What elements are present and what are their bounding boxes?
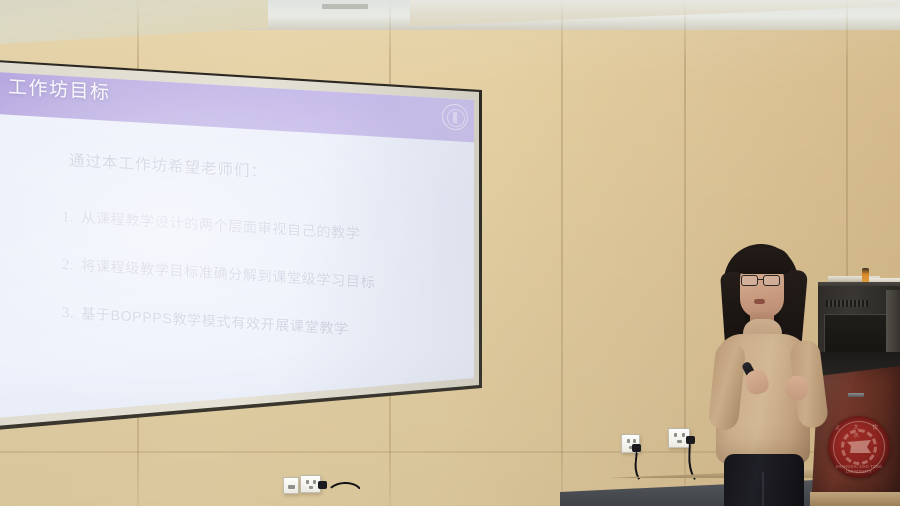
screen-surface: 工作坊目标 通过本工作坊希望老师们： 1. 从课程教学设计的两个层面审视自己的教… (0, 52, 488, 432)
outlet-slot (682, 433, 685, 437)
slide-list-item-text: 将课程级教学目标准确分解到课堂级学习目标 (81, 255, 375, 292)
glasses-lens-right (763, 275, 780, 286)
lectern-handle (848, 393, 864, 397)
outlet-slot (313, 480, 316, 484)
ceiling-vent (322, 4, 368, 9)
glasses-lens-left (741, 275, 758, 286)
slide-list-item: 3. 基于BOPPPS教学模式有效开展课堂教学 (62, 302, 349, 339)
power-plug (318, 481, 327, 489)
outlet-slot (309, 486, 313, 489)
slide-list-item-number: 2. (62, 257, 74, 275)
outlet-slot (633, 439, 636, 443)
room-photo-scene: 工作坊目标 通过本工作坊希望老师们： 1. 从课程教学设计的两个层面审视自己的教… (0, 0, 900, 506)
pants-seam (762, 472, 764, 506)
presenter (690, 236, 850, 506)
presentation-slide: 工作坊目标 通过本工作坊希望老师们： 1. 从课程教学设计的两个层面审视自己的教… (0, 52, 474, 432)
outlet-slot (306, 480, 309, 484)
slide-list-item-number: 3. (62, 305, 74, 323)
slide-list-item: 1. 从课程教学设计的两个层面审视自己的教学 (62, 206, 361, 244)
slide-list-item: 2. 将课程级教学目标准确分解到课堂级学习目标 (62, 254, 375, 293)
university-seal-icon (442, 103, 468, 131)
wall-outlet-left-switch[interactable] (283, 477, 299, 494)
slide-list-item-text: 从课程教学设计的两个层面审视自己的教学 (81, 207, 360, 244)
glasses-bridge (758, 279, 763, 280)
outlet-slot (677, 440, 682, 443)
wall-panel-seam (561, 0, 563, 506)
projection-screen: 工作坊目标 通过本工作坊希望老师们： 1. 从课程教学设计的两个层面审视自己的教… (0, 52, 488, 432)
slide-lead-text: 通过本工作坊希望老师们： (69, 148, 267, 182)
slide-list-item-number: 1. (62, 209, 74, 227)
outlet-slot (627, 439, 630, 443)
slide-list-item-text: 基于BOPPPS教学模式有效开展课堂教学 (81, 303, 349, 339)
hair-fringe (735, 248, 791, 274)
outlet-slot (674, 433, 677, 437)
glasses (741, 275, 783, 286)
pants (724, 454, 804, 506)
switch-rocker (288, 485, 295, 489)
mouth (754, 299, 765, 304)
